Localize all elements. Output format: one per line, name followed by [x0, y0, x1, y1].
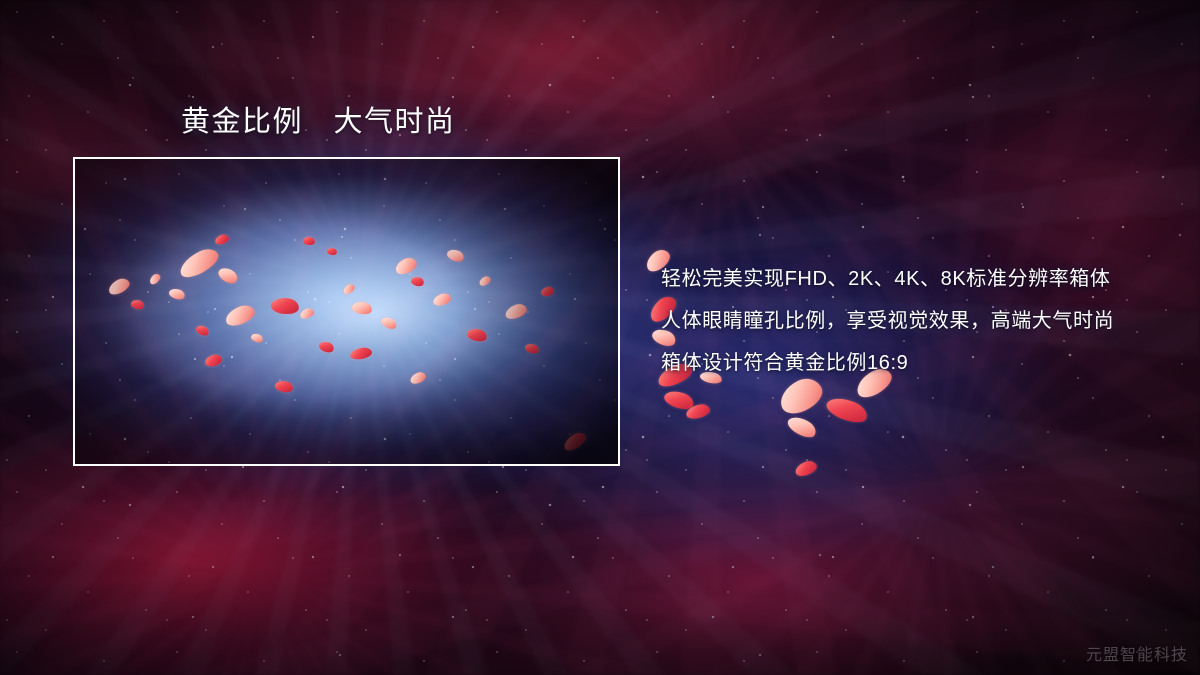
flower-petal: [785, 413, 819, 442]
display-panel-content: [75, 159, 618, 464]
flower-petal: [685, 403, 711, 421]
feature-line-1: 轻松完美实现FHD、2K、4K、8K标准分辨率箱体: [661, 258, 1181, 300]
panel-starfield-large: [75, 159, 618, 464]
presentation-slide: 黄金比例 大气时尚 轻松完美实现FHD、2K、4K、8K标准分辨率箱体 人体眼睛…: [0, 0, 1200, 675]
feature-description: 轻松完美实现FHD、2K、4K、8K标准分辨率箱体 人体眼睛瞳孔比例，享受视觉效…: [661, 258, 1181, 384]
page-title: 黄金比例 大气时尚: [181, 104, 456, 140]
flower-petal: [662, 387, 696, 412]
flower-petal: [824, 393, 870, 427]
feature-line-2: 人体眼睛瞳孔比例，享受视觉效果，高端大气时尚: [661, 300, 1181, 342]
brand-watermark: 元盟智能科技: [1086, 641, 1188, 665]
flower-petal: [794, 459, 819, 478]
feature-line-3: 箱体设计符合黄金比例16:9: [661, 342, 1181, 384]
display-panel-frame: [73, 157, 620, 466]
